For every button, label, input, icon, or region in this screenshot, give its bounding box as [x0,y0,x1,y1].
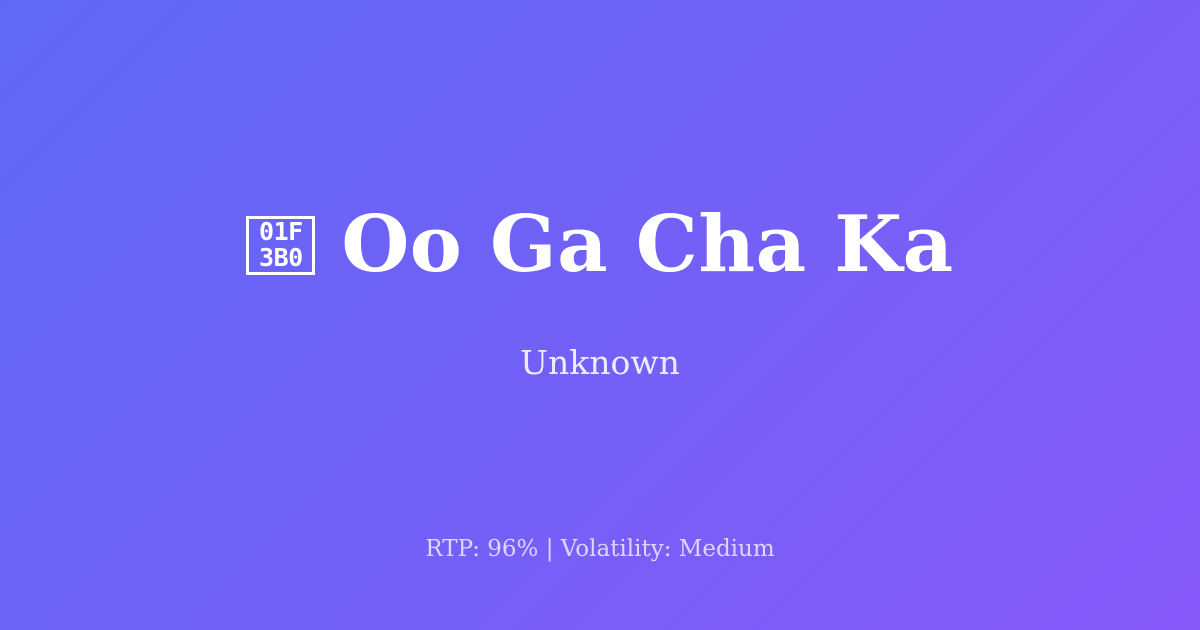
game-stats-footer: RTP: 96% | Volatility: Medium [0,536,1200,564]
game-provider: Unknown [520,343,680,383]
og-share-card: 01F 3B0 Oo Ga Cha Ka Unknown RTP: 96% | … [0,0,1200,630]
tofu-codepoint-bottom: 3B0 [259,245,303,271]
title-row: 01F 3B0 Oo Ga Cha Ka [0,204,1200,287]
game-title: Oo Ga Cha Ka [341,204,953,287]
hero-block: 01F 3B0 Oo Ga Cha Ka Unknown [0,204,1200,382]
slot-machine-emoji-tofu-icon: 01F 3B0 [246,216,315,275]
tofu-codepoint-top: 01F [259,219,303,245]
